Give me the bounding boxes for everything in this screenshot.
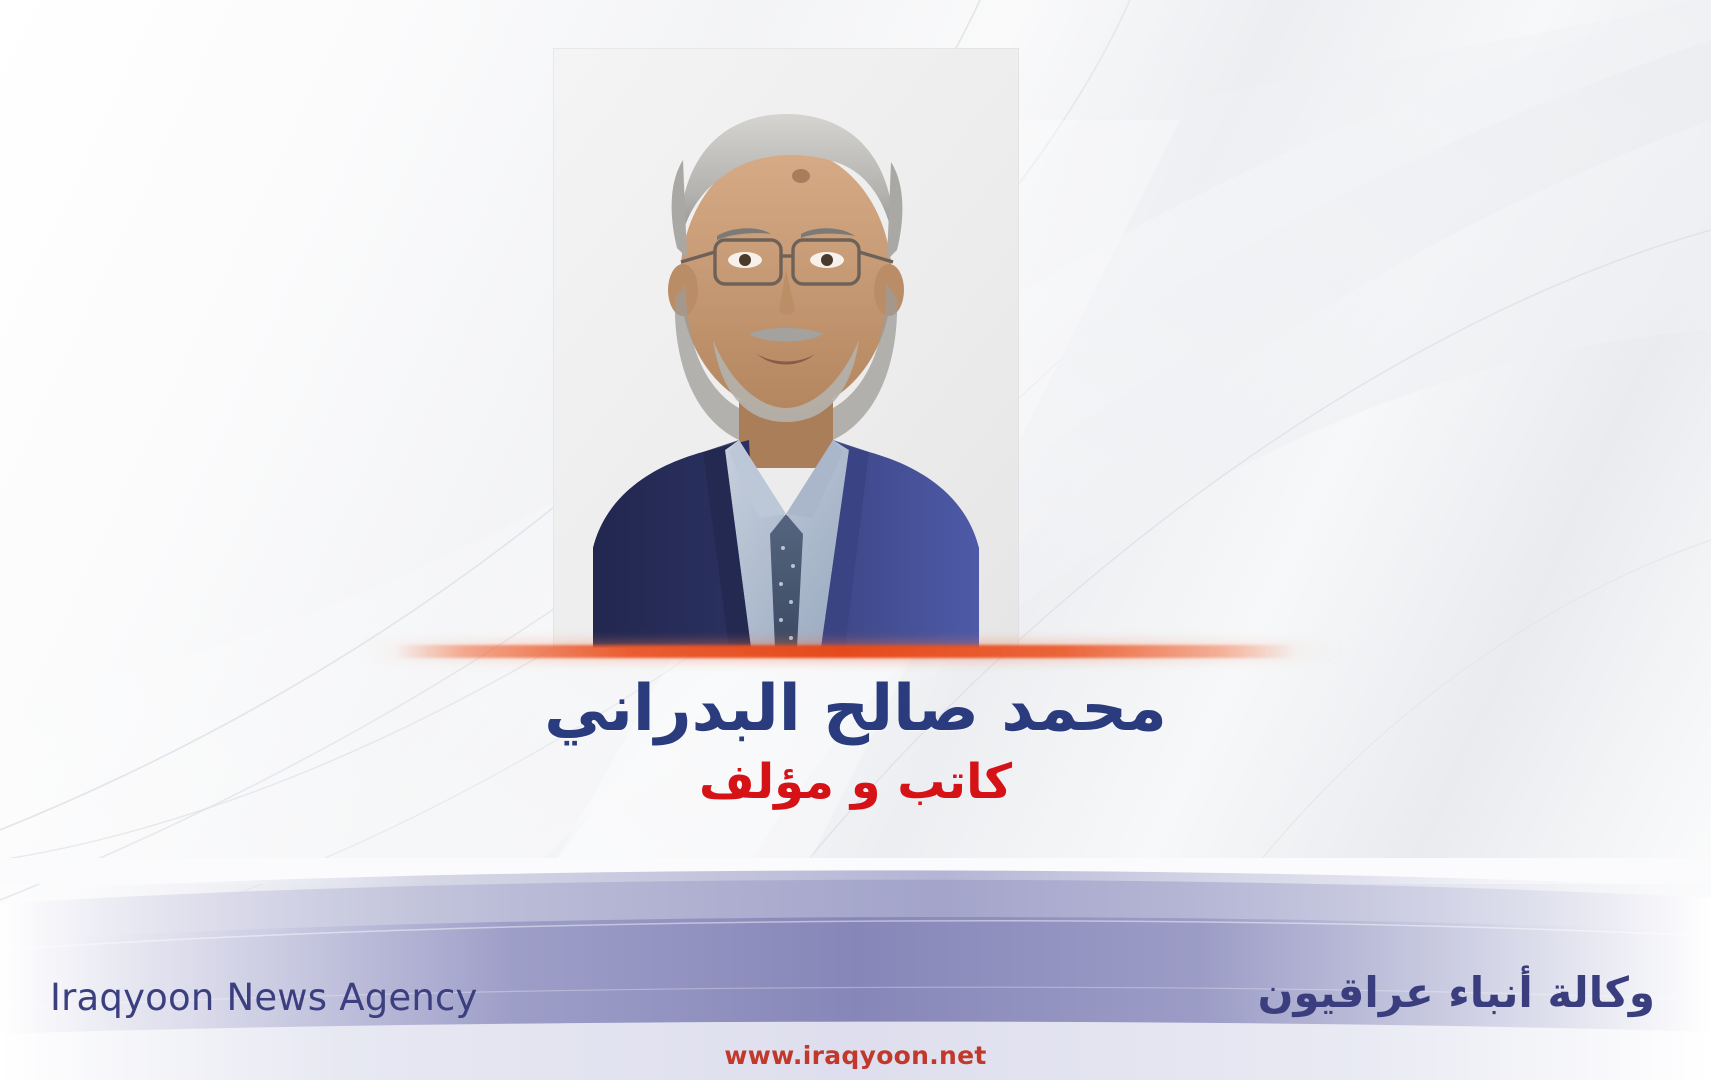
footer-bar: Iraqyoon News Agency وكالة أنباء عراقيون… [0, 858, 1711, 1080]
orange-divider-line [395, 645, 1295, 658]
news-banner-image: محمد صالح البدراني كاتب و مؤلف [0, 0, 1711, 1080]
person-role: كاتب و مؤلف [0, 752, 1711, 812]
agency-name-english: Iraqyoon News Agency [50, 976, 478, 1019]
person-name: محمد صالح البدراني [0, 672, 1711, 752]
website-url[interactable]: www.iraqyoon.net [0, 1041, 1711, 1070]
agency-name-arabic: وكالة أنباء عراقيون [1258, 968, 1655, 1017]
caption-block: محمد صالح البدراني كاتب و مؤلف [0, 672, 1711, 811]
portrait-photo-graphic [553, 48, 1019, 648]
portrait-photo [553, 48, 1019, 648]
